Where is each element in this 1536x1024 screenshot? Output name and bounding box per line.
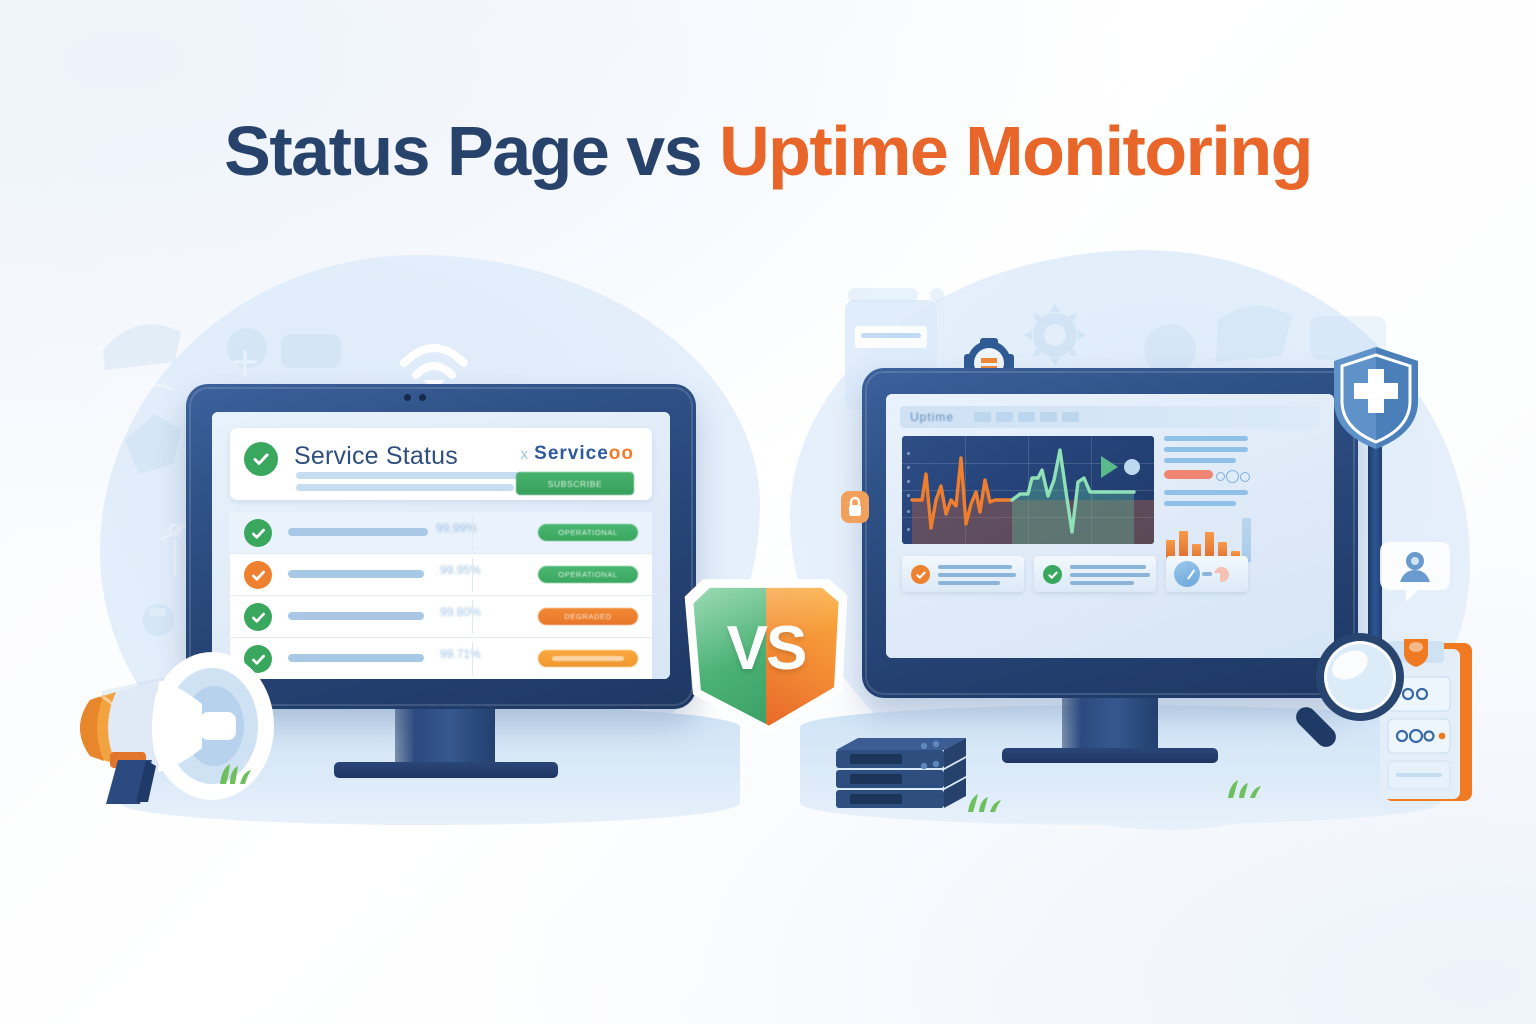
column-divider	[472, 516, 473, 550]
vs-label: VS	[683, 576, 849, 736]
traffic-bar-chart	[1164, 512, 1248, 562]
background-dot	[930, 288, 944, 302]
status-card[interactable]	[1034, 556, 1156, 592]
right-monitor-stand-base	[1002, 748, 1218, 763]
uptime-value: 99.99%	[436, 521, 477, 535]
skeleton-line	[1164, 447, 1248, 452]
row-status-icon	[244, 603, 272, 631]
right-screen: Uptime	[886, 394, 1334, 658]
webcam-dot	[419, 394, 426, 401]
ring-icon	[1226, 470, 1239, 483]
dashboard-topbar: Uptime	[900, 406, 1320, 428]
row-status-icon	[244, 519, 272, 547]
wifi-icon	[396, 337, 472, 391]
grass-decor	[214, 760, 256, 784]
column-divider	[472, 642, 473, 676]
grass-decor	[962, 790, 1006, 812]
skeleton-line	[1164, 458, 1236, 463]
table-row[interactable]: 99.99% Operational	[230, 512, 652, 554]
response-time-chart	[902, 436, 1154, 544]
gear-icon	[1020, 300, 1090, 370]
title-primary: Status Page vs	[224, 112, 719, 190]
grass-decor	[1222, 776, 1266, 798]
magnifier-icon	[1288, 625, 1418, 765]
megaphone-icon	[62, 630, 332, 810]
right-monitor-stand-neck	[1062, 698, 1158, 750]
status-badge	[538, 650, 638, 667]
status-dot	[1124, 459, 1140, 475]
gauge-card[interactable]	[1166, 556, 1248, 592]
dashboard-brand: Uptime	[910, 410, 954, 424]
skeleton-line	[1164, 490, 1248, 495]
badge-inner-bar	[552, 656, 624, 661]
tab-item[interactable]	[974, 412, 991, 422]
chart-svg	[902, 436, 1154, 544]
tab-item[interactable]	[1040, 412, 1057, 422]
title-accent: Uptime Monitoring	[719, 112, 1312, 190]
tab-item[interactable]	[1018, 412, 1035, 422]
skeleton-line	[1164, 436, 1248, 441]
illustration-canvas: Status Page vs Uptime Monitoring	[0, 0, 1536, 1024]
status-badge: Operational	[538, 524, 638, 541]
row-status-icon	[244, 561, 272, 589]
gauge-icon	[1174, 561, 1200, 587]
vs-badge: VS	[683, 576, 849, 736]
wedge-icon	[1214, 567, 1229, 582]
card-line	[1202, 572, 1212, 576]
brand-name: Service	[534, 443, 609, 464]
uptime-value: 99.80%	[440, 605, 481, 619]
alert-chip	[1164, 470, 1213, 479]
play-icon[interactable]	[1101, 456, 1118, 478]
gauge-needle	[1187, 569, 1195, 579]
status-card[interactable]	[902, 556, 1024, 592]
background-pill	[848, 288, 918, 302]
subscribe-button[interactable]: Subscribe	[516, 472, 634, 495]
brand-mark: x	[521, 446, 530, 463]
page-title: Status Page vs Uptime Monitoring	[0, 116, 1536, 186]
card-line	[1070, 573, 1150, 577]
card-status-icon	[1043, 565, 1062, 584]
card-line	[938, 565, 1012, 569]
service-name	[288, 570, 424, 578]
card-status-icon	[911, 565, 930, 584]
user-bubble-icon	[1378, 538, 1452, 604]
left-monitor-stand-base	[334, 762, 558, 778]
card-line	[1070, 565, 1146, 569]
header-skeleton-line	[296, 472, 526, 479]
service-name	[288, 528, 428, 536]
shield-plus-icon	[1330, 345, 1422, 451]
dashboard-side-panel	[1164, 436, 1248, 562]
status-page-title: Service Status	[294, 442, 458, 471]
service-name	[288, 612, 424, 620]
card-line	[938, 581, 1000, 585]
right-monitor: Uptime	[862, 368, 1358, 698]
column-divider	[472, 558, 473, 592]
brand-logo: xServiceoo	[521, 443, 634, 465]
status-page-header: Service Status xServiceoo Subscribe	[230, 428, 652, 500]
lock-badge-icon	[840, 490, 870, 524]
dashboard-tabs[interactable]	[974, 412, 1079, 422]
card-line	[1070, 581, 1134, 585]
tab-item[interactable]	[996, 412, 1013, 422]
brand-suffix: oo	[609, 443, 634, 464]
skeleton-line	[1164, 501, 1236, 506]
card-line	[938, 573, 1016, 577]
left-monitor-stand-neck	[395, 709, 495, 764]
overall-status-icon	[244, 442, 278, 476]
server-rack-icon	[832, 730, 972, 810]
ring-icon	[1240, 472, 1250, 482]
header-skeleton-line	[296, 484, 514, 491]
webcam-dot	[404, 394, 411, 401]
column-divider	[472, 600, 473, 634]
status-badge: Degraded	[538, 608, 638, 625]
monitoring-dashboard: Uptime	[886, 394, 1334, 658]
status-badge: Operational	[538, 566, 638, 583]
uptime-value: 99.71%	[440, 647, 481, 661]
tab-item[interactable]	[1062, 412, 1079, 422]
ring-icon	[1216, 472, 1225, 481]
table-row[interactable]: 99.95% Operational	[230, 554, 652, 596]
uptime-value: 99.95%	[440, 563, 481, 577]
